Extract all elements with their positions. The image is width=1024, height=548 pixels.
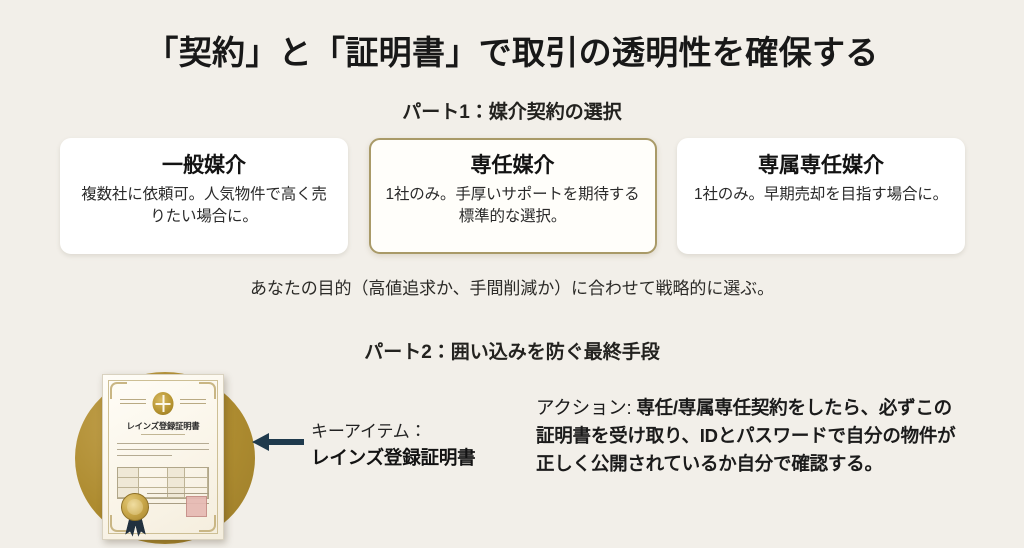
- certificate-document: レインズ登録証明書: [102, 374, 224, 540]
- certificate-title: レインズ登録証明書: [103, 420, 223, 432]
- action-callout: アクション: 専任/専属専任契約をしたら、必ずこの証明書を受け取り、IDとパスワ…: [536, 394, 960, 478]
- card-description: 1社のみ。早期売却を目指す場合に。: [694, 184, 948, 206]
- part2-heading: パート2：囲い込みを防ぐ最終手段: [0, 337, 1024, 364]
- cards-caption: あなたの目的（高値追求か、手間削減か）に合わせて戦略的に選ぶ。: [0, 274, 1024, 299]
- card-sennin-baikai[interactable]: 専任媒介 1社のみ。手厚いサポートを期待する標準的な選択。: [369, 138, 657, 254]
- key-item-label: キーアイテム：: [311, 420, 531, 445]
- corner-flourish-icon: [110, 515, 127, 532]
- key-item-callout: キーアイテム： レインズ登録証明書: [311, 420, 531, 471]
- corner-flourish-icon: [199, 515, 216, 532]
- emblem-rule: [120, 399, 146, 400]
- red-stamp-icon: [186, 496, 207, 517]
- gold-seal-icon: [121, 493, 149, 521]
- slide-root: 「契約」と「証明書」で取引の透明性を確保する パート1：媒介契約の選択 一般媒介…: [0, 0, 1024, 548]
- action-label: アクション:: [536, 397, 636, 418]
- emblem-rule: [180, 403, 206, 404]
- corner-flourish-icon: [110, 382, 127, 399]
- key-item-value: レインズ登録証明書: [311, 445, 531, 472]
- card-title: 専任媒介: [471, 154, 555, 177]
- contract-type-card-row: 一般媒介 複数社に依頼可。人気物件で高く売りたい場合に。 専任媒介 1社のみ。手…: [60, 138, 965, 254]
- certificate-illustration: レインズ登録証明書: [57, 368, 289, 544]
- card-ippan-baikai[interactable]: 一般媒介 複数社に依頼可。人気物件で高く売りたい場合に。: [60, 138, 348, 254]
- certificate-text-lines: [117, 443, 209, 461]
- card-senzoku-sennin-baikai[interactable]: 専属専任媒介 1社のみ。早期売却を目指す場合に。: [677, 138, 965, 254]
- arrow-left-icon: [252, 432, 304, 452]
- emblem-rule: [180, 399, 206, 400]
- card-title: 一般媒介: [162, 154, 246, 177]
- card-description: 複数社に依頼可。人気物件で高く売りたい場合に。: [76, 184, 332, 228]
- card-description: 1社のみ。手厚いサポートを期待する標準的な選択。: [385, 184, 641, 228]
- certificate-subrule: [141, 434, 185, 435]
- card-title: 専属専任媒介: [758, 154, 884, 177]
- corner-flourish-icon: [199, 382, 216, 399]
- page-title: 「契約」と「証明書」で取引の透明性を確保する: [0, 26, 1024, 74]
- emblem-rule: [120, 403, 146, 404]
- reins-emblem-icon: [153, 392, 174, 415]
- part1-heading: パート1：媒介契約の選択: [0, 97, 1024, 124]
